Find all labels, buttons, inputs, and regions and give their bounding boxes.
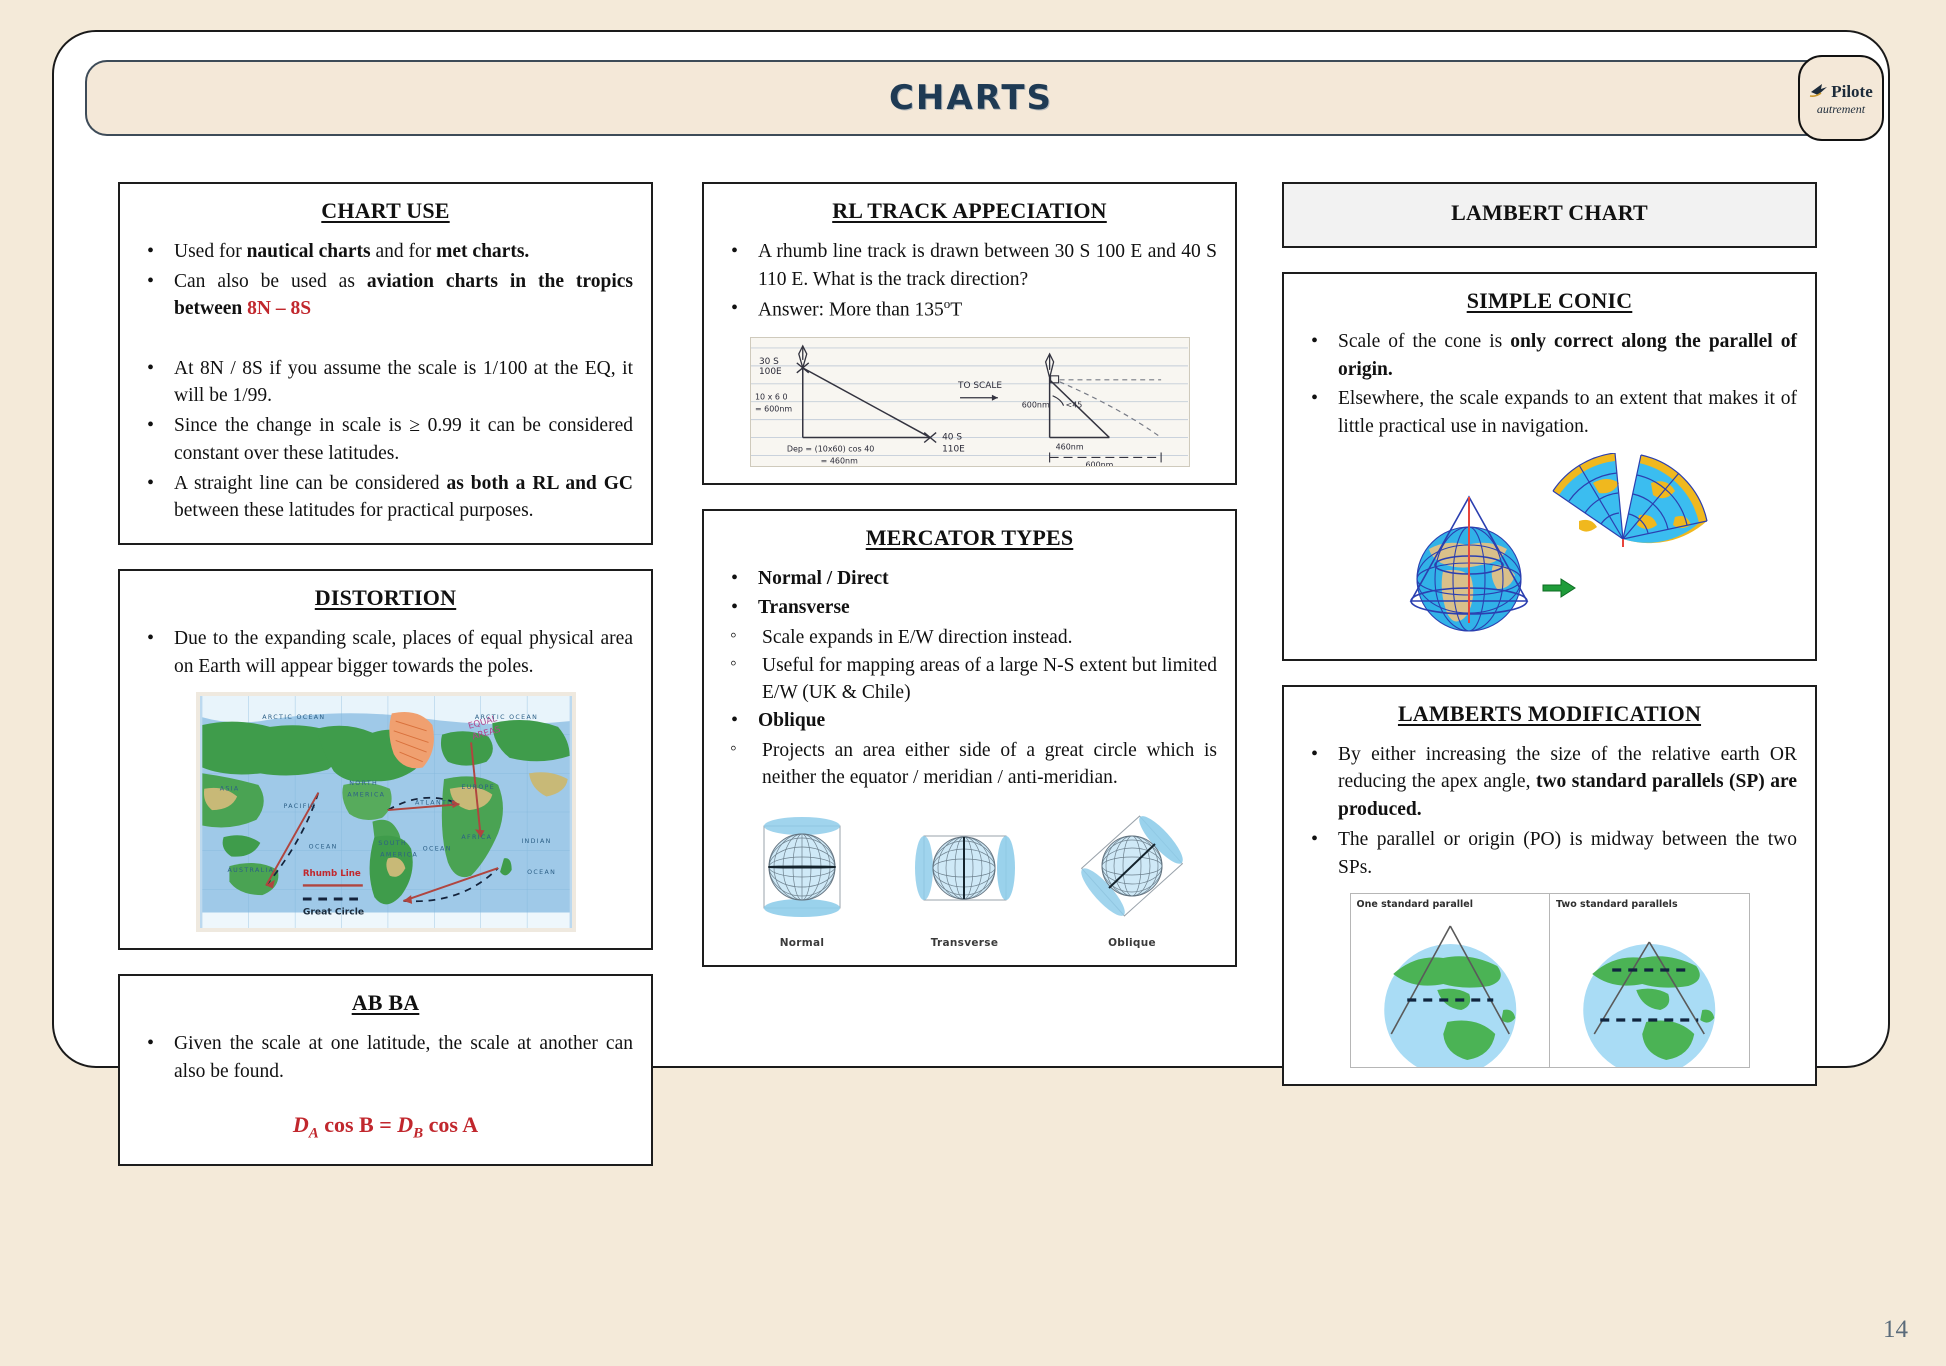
svg-text:SOUTH: SOUTH	[378, 840, 407, 847]
standard-parallels-comparison-icon: One standard parallel	[1350, 893, 1750, 1068]
ab-ba-title: AB BA	[138, 990, 633, 1016]
globe-normal: Normal	[742, 804, 862, 949]
svg-text:TO SCALE: TO SCALE	[957, 380, 1002, 390]
list-item: Used for nautical charts and for met cha…	[138, 238, 633, 266]
list-item: Scale of the cone is only correct along …	[1302, 328, 1797, 383]
distortion-list: Due to the expanding scale, places of eq…	[138, 625, 633, 680]
globe-caption: Normal	[780, 937, 825, 949]
list-item: Normal / Direct	[722, 565, 1217, 593]
oblique-sublist: Projects an area either side of a great …	[722, 737, 1217, 792]
svg-text:= 460nm: = 460nm	[820, 456, 857, 465]
svg-text:600nm: 600nm	[1021, 400, 1049, 409]
mercator-types-title: MERCATOR TYPES	[722, 525, 1217, 551]
distortion-box: DISTORTION Due to the expanding scale, p…	[118, 569, 653, 950]
svg-text:= 600nm: = 600nm	[754, 404, 791, 413]
list-item: Elsewhere, the scale expands to an exten…	[1302, 385, 1797, 440]
list-item: Oblique	[722, 707, 1217, 735]
two-standard-parallels-panel: Two standard parallels	[1549, 894, 1749, 1067]
list-item: Since the change in scale is ≥ 0.99 it c…	[138, 412, 633, 467]
list-spacer	[138, 325, 633, 353]
svg-text:EUROPE: EUROPE	[461, 784, 495, 791]
brand-logo: Pilote autrement	[1798, 55, 1884, 141]
globe-transverse: Transverse	[902, 804, 1027, 949]
svg-text:100E: 100E	[758, 366, 781, 376]
logo-subtitle: autrement	[1817, 103, 1865, 115]
transverse-cylinder-globe-icon	[902, 804, 1027, 929]
panel-caption: One standard parallel	[1357, 899, 1473, 910]
simple-conic-title: SIMPLE CONIC	[1302, 288, 1797, 314]
svg-text:NORTH: NORTH	[349, 780, 378, 787]
svg-text:INDIAN: INDIAN	[521, 838, 551, 845]
list-item: A rhumb line track is drawn between 30 S…	[722, 238, 1217, 293]
simple-conic-box: SIMPLE CONIC Scale of the cone is only c…	[1282, 272, 1817, 661]
logo-name: Pilote	[1831, 83, 1873, 100]
rl-track-box: RL TRACK APPECIATION A rhumb line track …	[702, 182, 1237, 485]
svg-text:OCEAN: OCEAN	[308, 844, 337, 851]
lamberts-modification-box: LAMBERTS MODIFICATION By either increasi…	[1282, 685, 1817, 1086]
handwritten-rl-track-diagram-icon: 30 S 100E 10 x 6 0 = 600nm Dep = (10x60)…	[750, 337, 1190, 467]
left-column: CHART USE Used for nautical charts and f…	[118, 182, 653, 1190]
list-item: Projects an area either side of a great …	[722, 737, 1217, 792]
distortion-figure-wrap: EQUAL AREAS ARCTIC OCEAN ARCTIC OCEAN AS…	[138, 692, 633, 932]
list-item: A straight line can be considered as bot…	[138, 470, 633, 525]
distortion-title: DISTORTION	[138, 585, 633, 611]
green-arrow-icon	[1543, 579, 1575, 597]
list-item: Transverse	[722, 594, 1217, 622]
svg-text:AFRICA: AFRICA	[461, 834, 492, 841]
svg-text:ASIA: ASIA	[219, 786, 239, 793]
right-column: LAMBERT CHART SIMPLE CONIC Scale of the …	[1282, 182, 1817, 1110]
oblique-cylinder-globe-icon	[1067, 804, 1197, 929]
svg-text:30 S: 30 S	[758, 356, 778, 366]
svg-text:ARCTIC OCEAN: ARCTIC OCEAN	[474, 714, 537, 721]
svg-text:AMERICA: AMERICA	[347, 792, 385, 799]
lambert-chart-header: LAMBERT CHART	[1302, 200, 1797, 226]
list-item: By either increasing the size of the rel…	[1302, 741, 1797, 824]
header-bar: CHARTS	[85, 60, 1857, 136]
standard-parallels-figure-wrap: One standard parallel	[1302, 893, 1797, 1068]
svg-text:<45: <45	[1065, 400, 1082, 409]
lamberts-modification-title: LAMBERTS MODIFICATION	[1302, 701, 1797, 727]
svg-text:Great Circle: Great Circle	[302, 907, 363, 918]
list-item: Given the scale at one latitude, the sca…	[138, 1030, 633, 1085]
chart-use-box: CHART USE Used for nautical charts and f…	[118, 182, 653, 545]
ab-ba-formula: DA cos B = DB cos A	[138, 1112, 633, 1142]
list-item: At 8N / 8S if you assume the scale is 1/…	[138, 355, 633, 410]
middle-column: RL TRACK APPECIATION A rhumb line track …	[702, 182, 1237, 991]
normal-cylinder-globe-icon	[742, 804, 862, 929]
svg-text:460nm: 460nm	[1055, 442, 1083, 451]
list-item: The parallel or origin (PO) is midway be…	[1302, 826, 1797, 881]
globe-caption: Transverse	[931, 937, 999, 949]
list-item: Can also be used as aviation charts in t…	[138, 268, 633, 323]
mercator-types-list: Normal / Direct Transverse	[722, 565, 1217, 622]
svg-text:ARCTIC OCEAN: ARCTIC OCEAN	[262, 714, 325, 721]
rl-track-list: A rhumb line track is drawn between 30 S…	[722, 238, 1217, 325]
lambert-chart-header-box: LAMBERT CHART	[1282, 182, 1817, 248]
oblique-list: Oblique	[722, 707, 1217, 735]
svg-text:AUSTRALIA: AUSTRALIA	[227, 867, 274, 874]
svg-text:ATLANTIC: ATLANTIC	[415, 800, 456, 807]
globe-oblique: Oblique	[1067, 804, 1197, 949]
mercator-globes-figure-wrap: Normal	[722, 804, 1217, 949]
svg-text:Dep = (10x60) cos 40: Dep = (10x60) cos 40	[786, 444, 874, 453]
page-title: CHARTS	[889, 78, 1053, 118]
svg-text:10 x 6 0: 10 x 6 0	[754, 392, 787, 401]
page-number: 14	[1883, 1316, 1908, 1344]
ab-ba-list: Given the scale at one latitude, the sca…	[138, 1030, 633, 1085]
lamberts-modification-list: By either increasing the size of the rel…	[1302, 741, 1797, 881]
list-item: Answer: More than 135oT	[722, 295, 1217, 324]
rl-track-title: RL TRACK APPECIATION	[722, 198, 1217, 224]
airplane-icon	[1809, 82, 1829, 102]
ab-ba-box: AB BA Given the scale at one latitude, t…	[118, 974, 653, 1166]
chart-use-list: Used for nautical charts and for met cha…	[138, 238, 633, 525]
cone-over-globe-to-conic-map-icon	[1385, 453, 1715, 643]
svg-text:Rhumb Line: Rhumb Line	[302, 869, 360, 879]
chart-use-title: CHART USE	[138, 198, 633, 224]
svg-text:40 S: 40 S	[942, 432, 962, 442]
simple-conic-figure-wrap	[1302, 453, 1797, 643]
simple-conic-list: Scale of the cone is only correct along …	[1302, 328, 1797, 441]
list-item: Useful for mapping areas of a large N-S …	[722, 652, 1217, 707]
svg-text:600nm: 600nm	[1085, 460, 1113, 467]
rl-track-figure-wrap: 30 S 100E 10 x 6 0 = 600nm Dep = (10x60)…	[722, 337, 1217, 467]
svg-text:AMERICA: AMERICA	[380, 852, 418, 859]
globe-caption: Oblique	[1108, 937, 1156, 949]
slide-background: CHARTS Pilote autrement 14 CHART USE	[0, 0, 1946, 1366]
transverse-sublist: Scale expands in E/W direction instead. …	[722, 624, 1217, 707]
list-item: Due to the expanding scale, places of eq…	[138, 625, 633, 680]
one-standard-parallel-panel: One standard parallel	[1351, 894, 1550, 1067]
mercator-types-box: MERCATOR TYPES Normal / Direct Transvers…	[702, 509, 1237, 968]
svg-text:110E: 110E	[942, 444, 965, 454]
svg-text:OCEAN: OCEAN	[527, 869, 556, 876]
list-item: Scale expands in E/W direction instead.	[722, 624, 1217, 652]
svg-text:PACIFIC: PACIFIC	[283, 803, 316, 810]
panel-caption: Two standard parallels	[1556, 899, 1678, 910]
svg-text:OCEAN: OCEAN	[422, 846, 451, 853]
world-map-rhumb-great-circle-icon: EQUAL AREAS ARCTIC OCEAN ARCTIC OCEAN AS…	[196, 692, 576, 932]
